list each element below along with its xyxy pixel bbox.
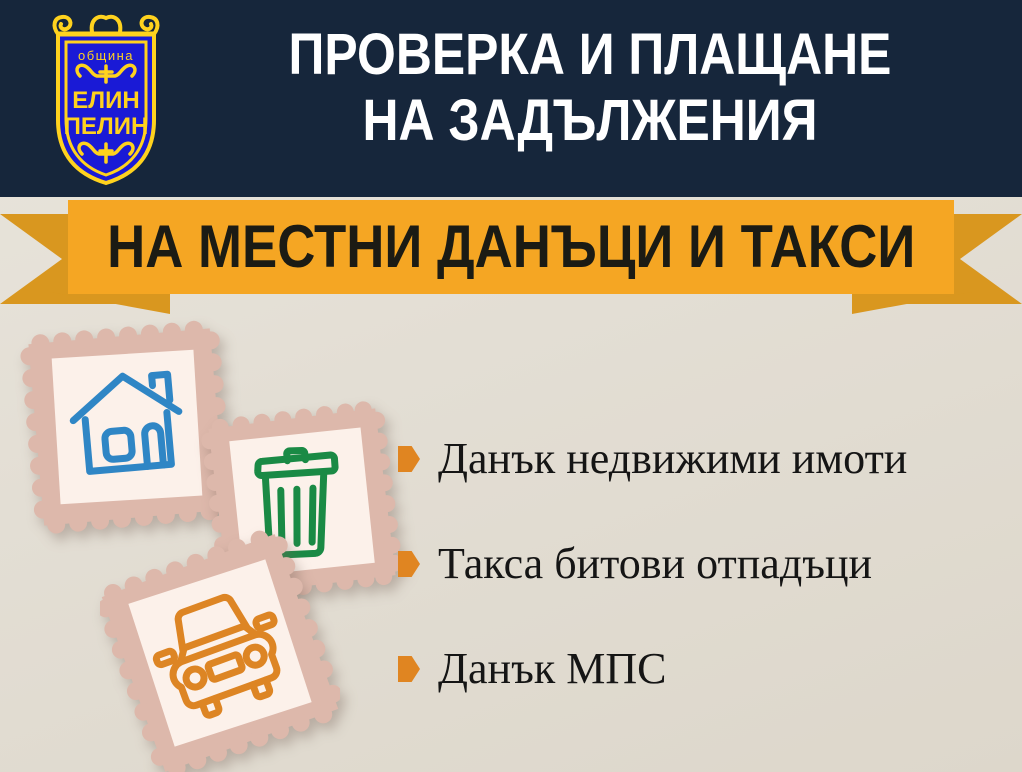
list-item[interactable]: Такса битови отпадъци <box>398 535 1018 593</box>
ribbon-label: НА МЕСТНИ ДАНЪЦИ И ТАКСИ <box>107 215 915 279</box>
crest-icon: община ЕЛИН ПЕЛИН <box>40 8 172 190</box>
list-item[interactable]: Данък недвижими имоти <box>398 430 1018 488</box>
stamp-car <box>100 530 340 772</box>
page-title-line-1: ПРОВЕРКА И ПЛАЩАНЕ <box>237 22 942 88</box>
arrow-bullet-icon <box>398 656 420 682</box>
ribbon-panel: НА МЕСТНИ ДАНЪЦИ И ТАКСИ <box>68 200 954 294</box>
svg-text:ПЕЛИН: ПЕЛИН <box>64 113 149 140</box>
subtitle-ribbon: НА МЕСТНИ ДАНЪЦИ И ТАКСИ <box>0 196 1022 306</box>
svg-text:ЕЛИН: ЕЛИН <box>72 87 139 114</box>
page-header: община ЕЛИН ПЕЛИН ПРОВЕРКА И ПЛАЩАНЕ НА … <box>0 0 1022 197</box>
list-item-label: Такса битови отпадъци <box>438 538 872 590</box>
svg-text:община: община <box>78 48 134 63</box>
tax-type-list: Данък недвижими имоти Такса битови отпад… <box>398 430 1018 745</box>
page-title: ПРОВЕРКА И ПЛАЩАНЕ НА ЗАДЪЛЖЕНИЯ <box>180 22 1000 154</box>
municipality-logo: община ЕЛИН ПЕЛИН <box>40 8 172 190</box>
arrow-bullet-icon <box>398 446 420 472</box>
arrow-bullet-icon <box>398 551 420 577</box>
list-item[interactable]: Данък МПС <box>398 640 1018 698</box>
list-item-label: Данък недвижими имоти <box>438 433 907 485</box>
page-title-line-2: НА ЗАДЪЛЖЕНИЯ <box>237 88 942 154</box>
list-item-label: Данък МПС <box>438 643 666 695</box>
